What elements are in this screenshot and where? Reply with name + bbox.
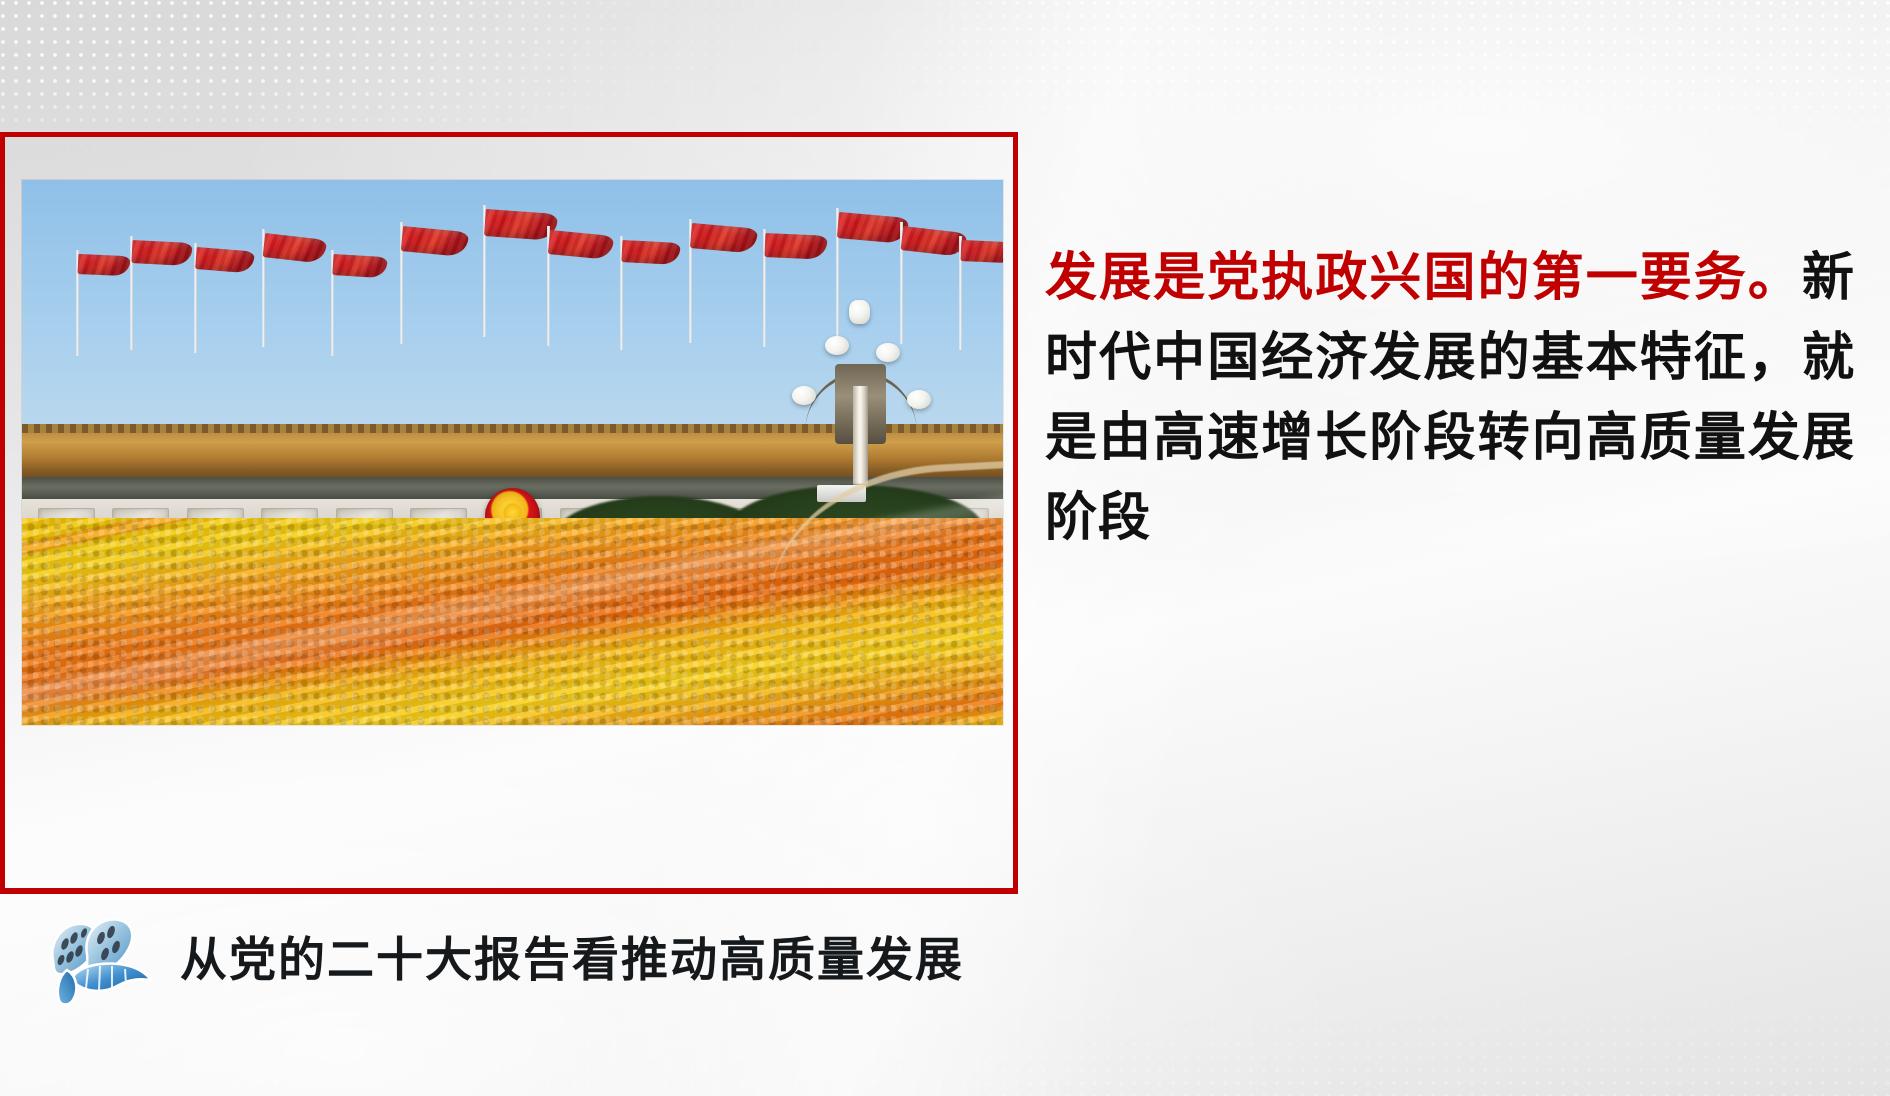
flag-cloth — [131, 240, 192, 266]
flag-cloth — [263, 233, 327, 264]
flag-cloth — [837, 212, 909, 244]
flag-cloth — [195, 247, 255, 273]
lamp-globe — [907, 390, 931, 409]
hero-photo — [22, 180, 1003, 725]
flag-cloth — [764, 233, 827, 260]
flag-cloth — [78, 254, 131, 276]
lamp-globe — [825, 336, 849, 355]
body-text-column: 发展是党执政兴国的第一要务。新时代中国经济发展的基本特征，就是由高速增长阶段转向… — [1045, 238, 1855, 558]
flag-cloth — [332, 254, 387, 278]
caption-text: 从党的二十大报告看推动高质量发展 — [180, 937, 964, 984]
flag-cloth — [400, 226, 468, 257]
lamp-globe — [876, 343, 900, 362]
flag-cloth — [548, 230, 614, 260]
flag-cloth — [960, 240, 1003, 263]
flag-cloth — [622, 240, 681, 265]
body-paragraph: 发展是党执政兴国的第一要务。新时代中国经济发展的基本特征，就是由高速增长阶段转向… — [1045, 238, 1855, 558]
slide-root: 发展是党执政兴国的第一要务。新时代中国经济发展的基本特征，就是由高速增长阶段转向… — [0, 0, 1890, 1096]
halftone-dot-pattern-top — [0, 0, 1890, 150]
caption-bar: 从党的二十大报告看推动高质量发展 — [40, 912, 964, 1008]
film-butterfly-icon — [40, 912, 158, 1008]
flag-cloth — [690, 223, 758, 254]
vertical-red-divider — [1013, 132, 1018, 894]
lamp-globe — [849, 300, 869, 324]
body-highlight: 发展是党执政兴国的第一要务。 — [1045, 248, 1802, 308]
flag-cloth — [901, 226, 967, 257]
